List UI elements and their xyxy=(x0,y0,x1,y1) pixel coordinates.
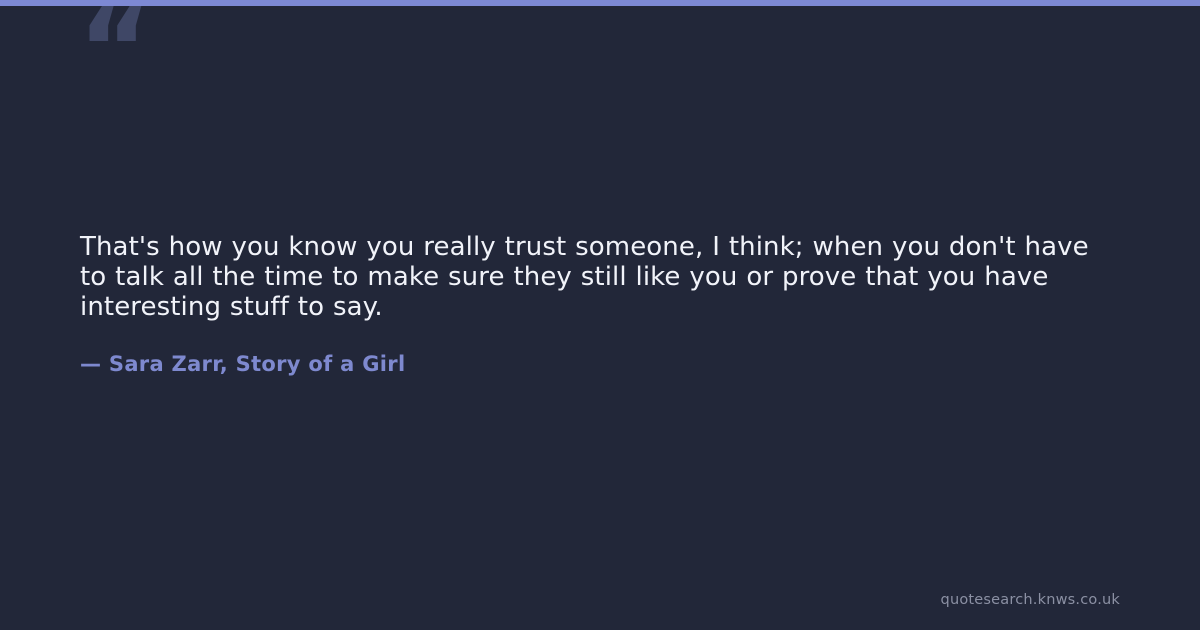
quote-card: “ That's how you know you really trust s… xyxy=(0,0,1200,630)
quote-attribution: — Sara Zarr, Story of a Girl xyxy=(80,322,1110,377)
quote-content: That's how you know you really trust som… xyxy=(80,232,1110,377)
open-quote-icon: “ xyxy=(78,0,150,106)
source-url-label: quotesearch.knws.co.uk xyxy=(941,591,1120,609)
top-accent-bar xyxy=(0,0,1200,6)
quote-text: That's how you know you really trust som… xyxy=(80,232,1110,322)
